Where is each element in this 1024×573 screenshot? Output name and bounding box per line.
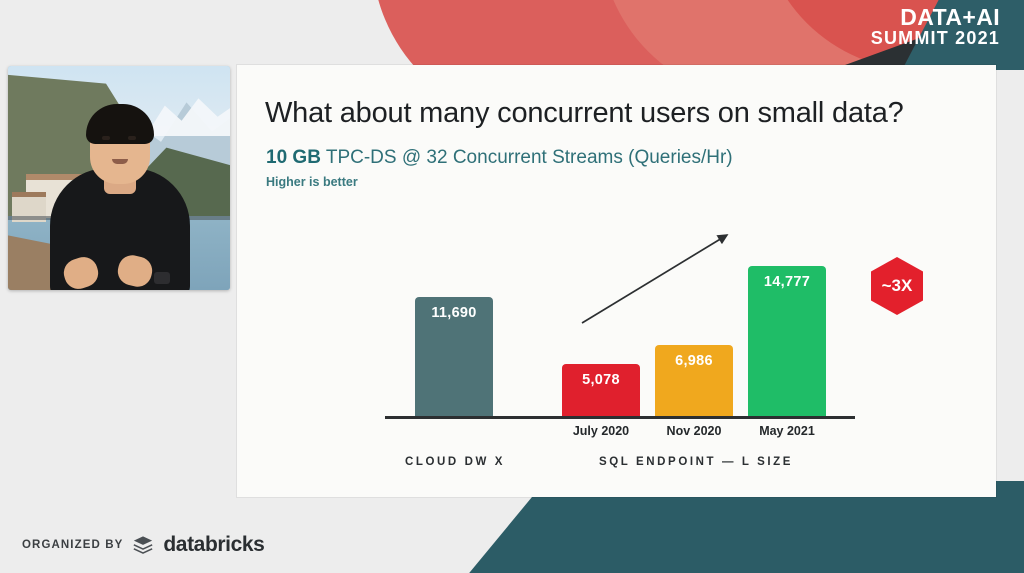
- event-logo-line2: SUMMIT 2021: [871, 29, 1000, 47]
- organized-by-label: ORGANIZED BY: [22, 539, 123, 551]
- event-logo-line1: DATA+AI: [871, 6, 1000, 29]
- bar-value-cloud-dw-x: 11,690: [415, 305, 493, 321]
- presenter-video-tile[interactable]: [8, 66, 230, 290]
- presenter-wristwatch: [154, 272, 170, 284]
- tick-label-may-2021: May 2021: [748, 424, 826, 438]
- databricks-wordmark: databricks: [163, 533, 264, 557]
- event-logo: DATA+AI SUMMIT 2021: [871, 6, 1000, 48]
- tick-label-july-2020: July 2020: [562, 424, 640, 438]
- slide-card: What about many concurrent users on smal…: [237, 65, 996, 497]
- group-label-cloud-dw-x: CLOUD DW X: [377, 456, 533, 468]
- growth-badge-label: ~3X: [882, 276, 913, 296]
- bar-value-may-2021: 14,777: [748, 274, 826, 290]
- chart-baseline-axis: [385, 416, 855, 419]
- growth-badge-3x: ~3X: [871, 257, 923, 315]
- presentation-stage: DATA+AI SUMMIT 2021 What about many conc…: [0, 0, 1024, 573]
- presenter-eye-left: [102, 136, 110, 140]
- footer-branding: ORGANIZED BY databricks: [22, 533, 264, 557]
- databricks-layers-icon: [132, 534, 154, 556]
- bar-value-nov-2020: 6,986: [655, 353, 733, 369]
- presenter-mouth: [112, 159, 128, 164]
- bar-value-july-2020: 5,078: [562, 372, 640, 388]
- presenter-eye-right: [128, 136, 136, 140]
- tick-label-nov-2020: Nov 2020: [655, 424, 733, 438]
- bar-chart: 11,690 5,078 6,986 14,777 July 2020 Nov …: [237, 65, 996, 497]
- group-label-sql-endpoint: SQL ENDPOINT — L SIZE: [557, 456, 835, 468]
